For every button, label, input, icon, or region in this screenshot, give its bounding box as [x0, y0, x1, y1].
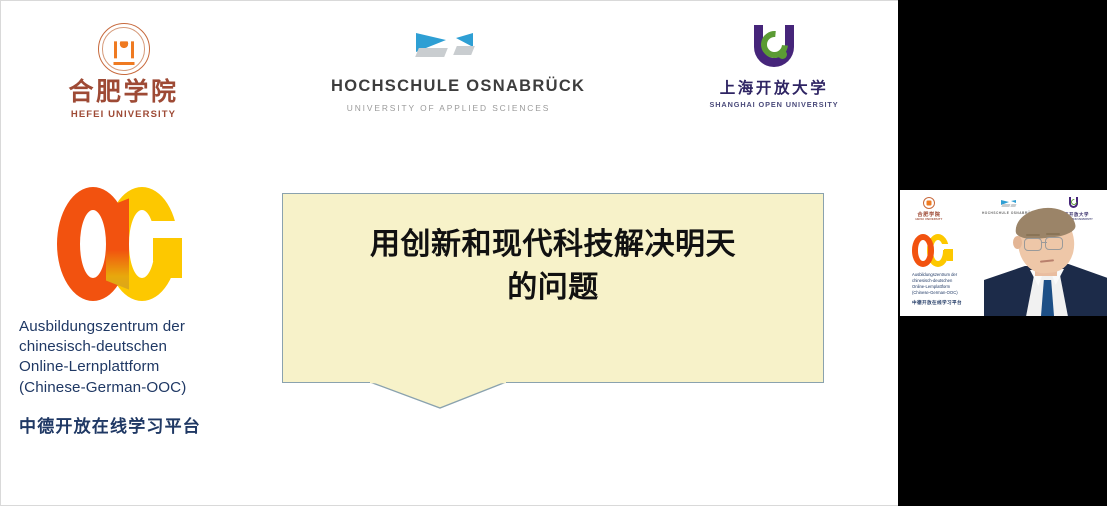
speech-bubble: 用创新和现代科技解决明天 的问题	[282, 193, 824, 383]
speaker-backdrop: 合肥学院 HEFEI UNIVERSITY HOCHSCHULE OSNABRÜ…	[900, 190, 1107, 316]
backdrop-og-g-stem	[947, 249, 954, 261]
osnabrueck-arrow-left-gray	[415, 48, 448, 57]
speaker-person	[988, 208, 1107, 316]
logo-hochschule-osnabrueck: HOCHSCHULE OSNABRÜCK UNIVERSITY OF APPLI…	[331, 29, 566, 113]
shanghai-name-cn: 上海开放大学	[704, 81, 844, 97]
shanghai-dot-shape	[778, 50, 787, 59]
speech-bubble-tail	[370, 382, 506, 409]
osnabrueck-arrow-icon	[416, 29, 482, 67]
hefei-name-cn: 合肥学院	[56, 80, 191, 106]
og-logo-block: Ausbildungszentrum der chinesisch-deutsc…	[19, 187, 264, 437]
backdrop-hefei-name-cn: 合肥学院	[912, 211, 946, 218]
video-sidebar-top-fill	[900, 0, 1107, 190]
logo-shanghai-open-university: 上海开放大学 SHANGHAI OPEN UNIVERSITY	[704, 23, 844, 109]
osnabrueck-arrow-right-gray	[453, 46, 475, 55]
meeting-viewport: 合肥学院 HEFEI UNIVERSITY HOCHSCHULE OSNABRÜ…	[0, 0, 1107, 506]
backdrop-osna-g1	[1001, 204, 1010, 207]
og-caption-de-line1: Ausbildungszentrum der	[19, 317, 264, 337]
slide-logo-row: 合肥学院 HEFEI UNIVERSITY HOCHSCHULE OSNABRÜ…	[1, 1, 898, 136]
speaker-ear	[1013, 236, 1022, 249]
logo-hefei-university: 合肥学院 HEFEI UNIVERSITY	[56, 23, 191, 120]
osnabrueck-arrow-right-blue	[456, 33, 473, 47]
speaker-eyeglass-left	[1024, 238, 1042, 251]
speaker-eyeglass-bridge	[1041, 242, 1047, 243]
og-caption-cn: 中德开放在线学习平台	[19, 412, 264, 437]
hefei-name-en: HEFEI UNIVERSITY	[56, 109, 191, 120]
speech-bubble-line2: 的问题	[311, 267, 795, 310]
backdrop-osna-g2	[1010, 204, 1016, 207]
og-caption-de-line2: chinesisch-deutschen	[19, 337, 264, 357]
speaker-video-tile[interactable]: 合肥学院 HEFEI UNIVERSITY HOCHSCHULE OSNABRÜ…	[900, 190, 1107, 316]
speech-bubble-text: 用创新和现代科技解决明天 的问题	[311, 224, 795, 309]
speech-bubble-line1: 用创新和现代科技解决明天	[311, 224, 795, 267]
og-caption-de: Ausbildungszentrum der chinesisch-deutsc…	[19, 317, 264, 398]
backdrop-osnabrueck-arrow-icon	[1001, 199, 1017, 208]
shared-slide: 合肥学院 HEFEI UNIVERSITY HOCHSCHULE OSNABRÜ…	[0, 0, 898, 506]
backdrop-og-letter-o	[912, 234, 934, 267]
speaker-eyebrow-left	[1026, 234, 1040, 236]
og-caption-de-line4: (Chinese-German-OOC)	[19, 378, 264, 398]
speaker-eyebrow-right	[1046, 233, 1060, 235]
osnabrueck-subtitle: UNIVERSITY OF APPLIED SCIENCES	[331, 103, 566, 113]
speech-bubble-box: 用创新和现代科技解决明天 的问题	[282, 193, 824, 383]
backdrop-logo-hefei: 合肥学院 HEFEI UNIVERSITY	[912, 197, 946, 221]
backdrop-hefei-name-en: HEFEI UNIVERSITY	[912, 218, 946, 221]
video-sidebar-bottom-fill	[900, 316, 1107, 506]
backdrop-osna-b2	[1011, 200, 1016, 203]
backdrop-og-wordmark-icon	[912, 234, 954, 268]
osnabrueck-name: HOCHSCHULE OSNABRÜCK	[331, 77, 566, 96]
og-g-stem	[159, 238, 182, 278]
og-wordmark-icon	[57, 187, 182, 305]
shanghai-name-en: SHANGHAI OPEN UNIVERSITY	[704, 100, 844, 109]
hefei-seal-icon	[98, 23, 150, 75]
backdrop-hefei-seal-icon	[923, 197, 935, 209]
hefei-seal-ring	[102, 27, 146, 71]
shanghai-open-u-icon	[747, 23, 801, 75]
speaker-eyeglass-right	[1045, 237, 1063, 250]
og-caption-de-line3: Online-Lernplattform	[19, 357, 264, 377]
